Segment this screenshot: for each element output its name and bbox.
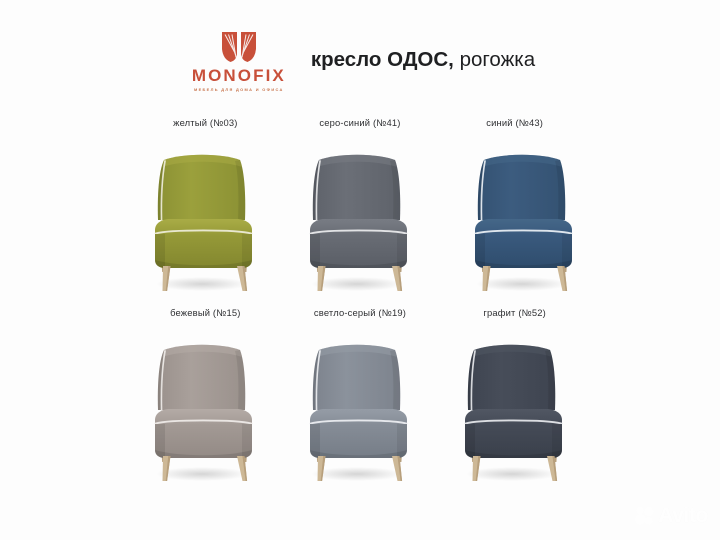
swatch-image: [440, 134, 590, 294]
chair-illustration: [440, 324, 590, 484]
swatch-label: графит (№52): [483, 302, 546, 324]
chair-backrest: [158, 345, 245, 410]
chair-illustration: [285, 324, 435, 484]
header: MONOFIX МЕБЕЛЬ ДЛЯ ДОМА И ОФИСА кресло О…: [0, 28, 720, 94]
product-catalog-image: MONOFIX МЕБЕЛЬ ДЛЯ ДОМА И ОФИСА кресло О…: [0, 0, 720, 540]
page-title-regular: рогожка: [460, 48, 536, 71]
chair-illustration: [440, 134, 590, 294]
swatch-cell[interactable]: графит (№52): [437, 302, 592, 484]
color-swatch-grid: желтый (№03): [128, 112, 592, 484]
chair-illustration: [285, 134, 435, 294]
swatch-cell[interactable]: светло-серый (№19): [283, 302, 438, 484]
swatch-image: [285, 324, 435, 484]
swatch-image: [440, 324, 590, 484]
chair-backrest: [313, 155, 400, 220]
avito-circles-icon: [634, 506, 654, 526]
chair-backrest: [158, 155, 245, 220]
chair-backrest: [477, 155, 564, 220]
chair-seat: [310, 409, 407, 458]
swatch-label: желтый (№03): [173, 112, 237, 134]
swatch-image: [285, 134, 435, 294]
chair-backrest: [467, 345, 554, 410]
swatch-cell[interactable]: синий (№43): [437, 112, 592, 294]
chair-seat: [465, 409, 562, 458]
swatch-cell[interactable]: бежевый (№15): [128, 302, 283, 484]
chair-illustration: [130, 134, 280, 294]
brand-logo: MONOFIX МЕБЕЛЬ ДЛЯ ДОМА И ОФИСА: [185, 30, 293, 92]
page-title: кресло ОДОС, рогожка: [311, 50, 535, 73]
leaf-icon: [219, 30, 259, 64]
chair-seat: [310, 219, 407, 268]
swatch-label: серо-синий (№41): [319, 112, 400, 134]
swatch-label: бежевый (№15): [170, 302, 241, 324]
swatch-label: светло-серый (№19): [314, 302, 406, 324]
swatch-image: [130, 324, 280, 484]
brand-name: MONOFIX: [192, 67, 286, 84]
swatch-cell[interactable]: серо-синий (№41): [283, 112, 438, 294]
swatch-image: [130, 134, 280, 294]
chair-backrest: [313, 345, 400, 410]
page-title-bold: кресло ОДОС,: [311, 48, 454, 71]
swatch-label: синий (№43): [486, 112, 543, 134]
swatch-cell[interactable]: желтый (№03): [128, 112, 283, 294]
chair-seat: [155, 219, 252, 268]
brand-tagline: МЕБЕЛЬ ДЛЯ ДОМА И ОФИСА: [194, 88, 284, 92]
avito-watermark: Avito: [634, 505, 708, 526]
chair-seat: [475, 219, 572, 268]
chair-seat: [155, 409, 252, 458]
avito-wordmark: Avito: [658, 505, 708, 526]
chair-illustration: [130, 324, 280, 484]
